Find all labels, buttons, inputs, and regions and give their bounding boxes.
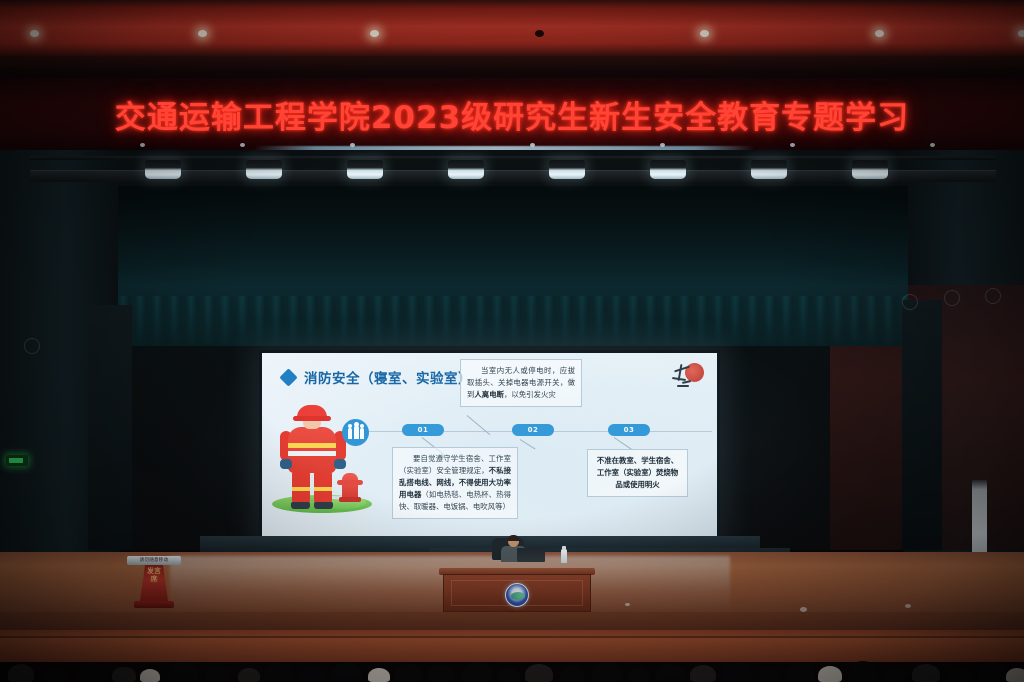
banner-edge-speckle <box>140 143 145 147</box>
audience-member <box>265 663 293 682</box>
audience-member <box>848 661 878 682</box>
ceiling-downlight-icon <box>875 30 884 37</box>
audience-member <box>395 664 423 682</box>
audience-member <box>205 665 231 682</box>
banner-title: 交通运输工程学院2023级研究生新生安全教育专题学习 <box>115 92 909 137</box>
speaker-hair <box>507 535 520 541</box>
auditorium-photo: 交通运输工程学院2023级研究生新生安全教育专题学习 消防安全（寝室、实验室） <box>0 0 1024 682</box>
banner-edge-speckle <box>660 143 665 147</box>
banner-edge-speckle <box>930 143 935 147</box>
blue-diamond-icon <box>279 368 297 386</box>
wall-fixture-icon <box>902 294 918 310</box>
floor-debris <box>905 604 911 608</box>
banner-edge-speckles <box>100 143 960 149</box>
lectern-plate-text: 请勿随意移动 <box>127 556 181 565</box>
slide-textbox-03: 不准在教室、学生宿舍、工作室（实验室）焚烧物品或使用明火 <box>587 449 688 497</box>
wall-fixture-icon <box>985 288 1001 304</box>
audience-member <box>1006 668 1024 682</box>
textbox-03-bold: 不准在教室、学生宿舍、工作室（实验室）焚烧物品或使用明火 <box>597 456 678 489</box>
firefighter-boot <box>314 502 333 509</box>
banner-edge-speckle <box>350 143 355 147</box>
podium-desk <box>443 568 591 614</box>
audience-member <box>462 662 492 682</box>
audience-member <box>238 668 260 682</box>
slide-textbox-02: 当室内无人或停电时，应拔取插头、关掉电器电源开关，做到人离电断，以免引发火灾 <box>460 359 582 407</box>
reflective-stripe <box>288 443 336 448</box>
audience-member <box>560 666 584 682</box>
audience-member <box>78 662 108 682</box>
audience-member <box>592 662 622 682</box>
audience-member <box>300 667 324 682</box>
slide-textbox-01: 要自觉遵守学生宿舍、工作室（实验室）安全管理规定，不私接乱搭电线、网线，不得使用… <box>392 447 518 519</box>
curtain-top-shadow <box>118 186 908 286</box>
slide-title-row: 消防安全（寝室、实验室） <box>282 367 472 387</box>
reflective-stripe <box>288 451 336 456</box>
calligraphy-seal-logo-icon <box>668 359 708 399</box>
left-speaker-stack <box>88 305 132 550</box>
timeline-step-01[interactable]: 01 <box>402 424 444 436</box>
wall-fixture-icon <box>944 290 960 306</box>
presentation-slide: 消防安全（寝室、实验室） <box>262 353 717 536</box>
stage-light-icon <box>751 160 787 179</box>
floor-debris <box>800 607 807 612</box>
audience-member <box>525 664 553 682</box>
speaker-lectern: 请勿随意移动 发言席 <box>132 556 176 610</box>
ceiling-downlight-icon <box>370 30 379 37</box>
timeline-step-03[interactable]: 03 <box>608 424 650 436</box>
audience-member <box>8 664 34 682</box>
audience-member <box>978 662 1008 682</box>
firefighter-body <box>288 427 336 473</box>
audience-member <box>656 664 684 682</box>
banner-edge-speckle <box>530 143 535 147</box>
stage-light-icon <box>448 160 484 179</box>
ceiling-downlight-off-icon <box>535 30 544 37</box>
audience-member <box>946 665 972 682</box>
wall-fixture-icon <box>24 338 40 354</box>
audience-silhouettes <box>0 640 1024 682</box>
audience-member <box>690 665 716 682</box>
audience-member <box>884 668 906 682</box>
laptop-icon <box>517 548 545 562</box>
audience-member <box>758 668 780 682</box>
projection-screen: 消防安全（寝室、实验室） <box>259 350 720 539</box>
stage-light-icon <box>246 160 282 179</box>
audience-member <box>786 664 814 682</box>
ceiling-red-light-band <box>0 0 1024 58</box>
university-seal-emblem-icon <box>505 583 529 607</box>
textbox-02-tail: ，以免引发火灾 <box>504 390 556 399</box>
fire-hydrant-icon <box>342 473 358 499</box>
led-banner: 交通运输工程学院2023级研究生新生安全教育专题学习 <box>0 78 1024 150</box>
water-bottle <box>561 549 567 563</box>
banner-edge-speckle <box>790 143 795 147</box>
people-group-icon <box>342 419 369 446</box>
audience-member <box>498 668 520 682</box>
audience-member <box>112 667 136 682</box>
ceiling-downlight-icon <box>700 30 709 37</box>
ceiling-downlight-icon <box>30 30 39 37</box>
firefighter-helmet-icon <box>297 405 327 420</box>
slide-title: 消防安全（寝室、实验室） <box>304 367 472 387</box>
stage-light-icon <box>852 160 888 179</box>
reflective-stripe <box>314 487 332 491</box>
reflective-stripe <box>292 487 310 491</box>
firefighter-boot <box>291 502 310 509</box>
banner-edge-speckle <box>240 143 245 147</box>
emergency-exit-sign-icon <box>6 455 28 466</box>
audience-member <box>428 665 454 682</box>
audience-member <box>45 668 67 682</box>
ceiling-downlight-icon <box>198 30 207 37</box>
ceiling-downlight-icon <box>1018 30 1024 37</box>
stage-light-icon <box>347 160 383 179</box>
audience-member <box>818 666 842 682</box>
lectern-sign-plate: 请勿随意移动 <box>127 556 181 565</box>
leader-line <box>520 439 536 449</box>
audience-member <box>140 669 160 682</box>
lectern-base <box>134 601 174 608</box>
firefighter-glove <box>334 459 346 469</box>
audience-member <box>722 662 752 682</box>
textbox-02-bold: 人离电断 <box>474 390 504 399</box>
audience-member <box>168 662 198 682</box>
apron-edge-line <box>0 636 1024 638</box>
timeline-step-02[interactable]: 02 <box>512 424 554 436</box>
audience-member <box>368 668 390 682</box>
lectern-label: 发言席 <box>146 568 162 583</box>
audience-member <box>912 664 940 682</box>
leader-line <box>467 415 491 435</box>
right-speaker-stack <box>902 300 942 550</box>
floor-debris <box>625 603 630 606</box>
stage-light-icon <box>145 160 181 179</box>
firefighter-glove <box>280 459 292 469</box>
stage-light-icon <box>650 160 686 179</box>
stage-light-icon <box>549 160 585 179</box>
audience-member <box>332 662 362 682</box>
audience-member <box>628 668 650 682</box>
podium-front-panel <box>443 574 591 612</box>
